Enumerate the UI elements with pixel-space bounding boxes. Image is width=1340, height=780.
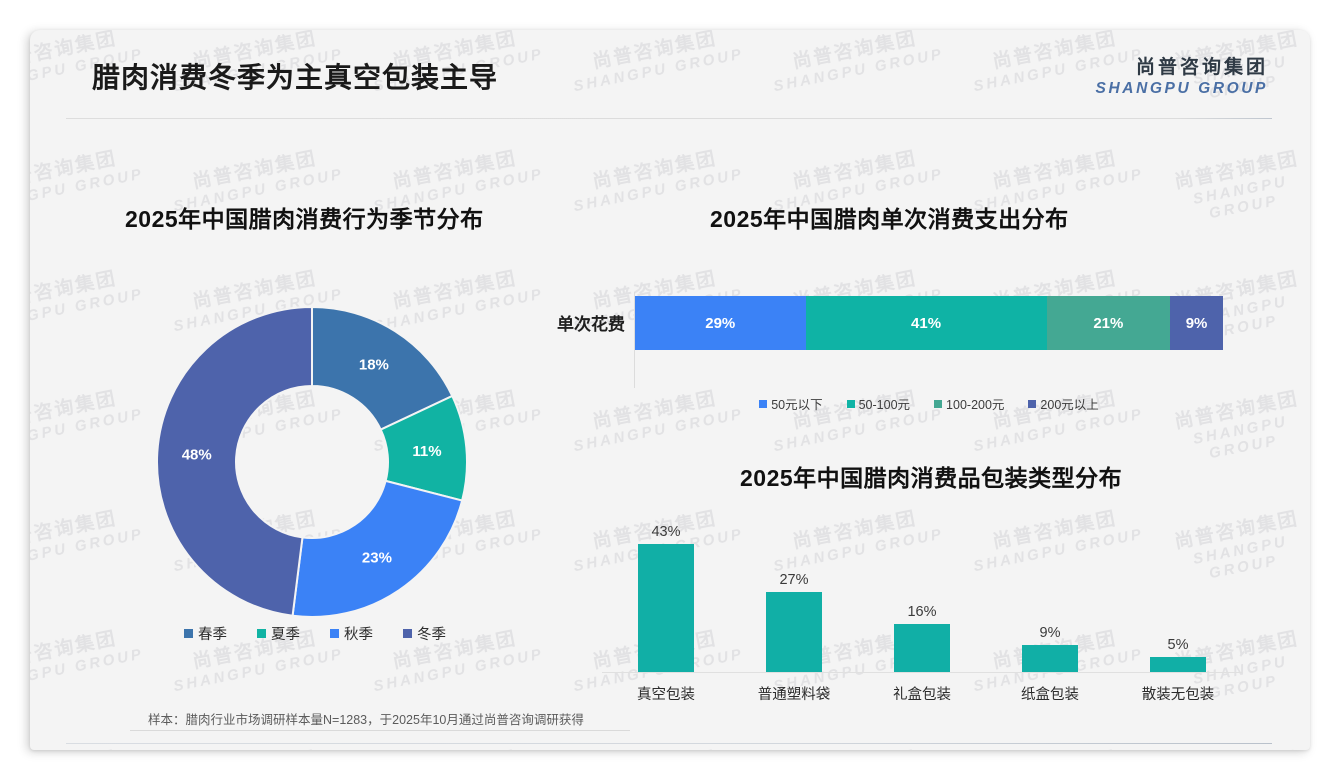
logo-text-cn: 尚普咨询集团 (1096, 52, 1268, 79)
bar-column[interactable]: 9% (990, 508, 1110, 672)
watermark-text: 尚普咨询集团SHANGPU GROUP (768, 744, 945, 750)
footnote-text: 样本：腊肉行业市场调研样本量N=1283，于2025年10月通过尚普咨询调研获得 (148, 709, 584, 728)
stacked-legend-item[interactable]: 50-100元 (847, 394, 910, 413)
bar-value-label: 43% (651, 524, 680, 540)
bar-column[interactable]: 43% (606, 508, 726, 672)
bar-category-label: 真空包装 (606, 683, 726, 704)
bar-value-label: 9% (1040, 625, 1061, 641)
donut-svg: 18%11%23%48% (150, 300, 474, 624)
legend-label: 冬季 (417, 623, 446, 644)
footer-divider (66, 743, 1272, 744)
stacked-bar-segment[interactable]: 29% (635, 296, 806, 350)
brand-logo: 尚普咨询集团 SHANGPU GROUP (1096, 52, 1268, 98)
bar-value-label: 27% (779, 572, 808, 588)
bar-column[interactable]: 27% (734, 508, 854, 672)
bar-rect[interactable] (766, 592, 822, 672)
legend-swatch (1028, 400, 1036, 408)
season-donut-chart: 18%11%23%48% (150, 300, 474, 624)
legend-swatch (330, 629, 339, 638)
donut-legend-item[interactable]: 秋季 (330, 623, 373, 644)
legend-label: 200元以上 (1040, 394, 1098, 413)
logo-text-en: SHANGPU GROUP (1096, 80, 1268, 98)
stacked-bar-segment[interactable]: 9% (1170, 296, 1223, 350)
legend-label: 50-100元 (859, 394, 910, 413)
bar-value-label: 16% (907, 604, 936, 620)
watermark-text: 尚普咨询集团SHANGPU GROUP (1166, 147, 1310, 229)
stacked-legend-item[interactable]: 50元以下 (759, 394, 822, 413)
stacked-legend-item[interactable]: 100-200元 (934, 394, 1004, 413)
legend-swatch (847, 400, 855, 408)
legend-swatch (934, 400, 942, 408)
stacked-bar-segment[interactable]: 21% (1047, 296, 1170, 350)
donut-slice-label: 18% (359, 356, 389, 373)
donut-legend-item[interactable]: 冬季 (403, 623, 446, 644)
donut-slice-label: 23% (362, 550, 392, 567)
bar-category-label: 散装无包装 (1118, 683, 1238, 704)
stacked-legend: 50元以下50-100元100-200元200元以上 (635, 394, 1223, 413)
legend-label: 100-200元 (946, 394, 1004, 413)
watermark-text: 尚普咨询集团SHANGPU GROUP (368, 744, 545, 750)
slide-header: 腊肉消费冬季为主真空包装主导 尚普咨询集团 SHANGPU GROUP (30, 30, 1310, 118)
bar-rect[interactable] (1150, 657, 1206, 672)
footnote-divider (130, 730, 630, 731)
legend-swatch (257, 629, 266, 638)
stacked-legend-item[interactable]: 200元以上 (1028, 394, 1098, 413)
donut-slice[interactable] (157, 307, 312, 616)
stacked-row-label: 单次花费 (530, 310, 625, 335)
donut-slice-label: 11% (412, 443, 441, 460)
legend-label: 秋季 (344, 623, 373, 644)
bar-value-label: 5% (1168, 637, 1189, 653)
stacked-chart-title: 2025年中国腊肉单次消费支出分布 (710, 200, 1069, 234)
watermark-text: 尚普咨询集团SHANGPU GROUP (30, 264, 145, 335)
legend-swatch (184, 629, 193, 638)
legend-label: 春季 (198, 623, 227, 644)
bars-plot-area: 43%27%16%9%5% (602, 508, 1242, 672)
donut-chart-title: 2025年中国腊肉消费行为季节分布 (125, 200, 484, 234)
watermark-text: 尚普咨询集团SHANGPU GROUP (568, 744, 745, 750)
slide-canvas: 尚普咨询集团SHANGPU GROUP尚普咨询集团SHANGPU GROUP尚普… (30, 30, 1310, 750)
bar-column[interactable]: 16% (862, 508, 982, 672)
bars-category-axis: 真空包装普通塑料袋礼盒包装纸盒包装散装无包装 (602, 683, 1242, 704)
packaging-chart-title: 2025年中国腊肉消费品包装类型分布 (740, 459, 1122, 493)
bar-category-label: 普通塑料袋 (734, 683, 854, 704)
bar-rect[interactable] (638, 544, 694, 672)
legend-swatch (403, 629, 412, 638)
header-divider (66, 118, 1272, 119)
watermark-text: 尚普咨询集团SHANGPU GROUP (30, 504, 145, 575)
page-title: 腊肉消费冬季为主真空包装主导 (92, 56, 498, 96)
watermark-text: 尚普咨询集团SHANGPU GROUP (30, 384, 145, 455)
watermark-text: 尚普咨询集团SHANGPU GROUP (30, 624, 145, 695)
stacked-bar-track: 29%41%21%9% (635, 296, 1223, 350)
legend-label: 50元以下 (771, 394, 822, 413)
stacked-bar-segment[interactable]: 41% (806, 296, 1047, 350)
bar-column[interactable]: 5% (1118, 508, 1238, 672)
legend-swatch (759, 400, 767, 408)
bar-rect[interactable] (894, 624, 950, 672)
bar-rect[interactable] (1022, 645, 1078, 672)
bars-baseline (602, 672, 1242, 673)
bar-category-label: 礼盒包装 (862, 683, 982, 704)
donut-legend-item[interactable]: 春季 (184, 623, 227, 644)
donut-legend-item[interactable]: 夏季 (257, 623, 300, 644)
donut-slice-label: 48% (182, 447, 212, 464)
donut-legend: 春季夏季秋季冬季 (150, 623, 480, 644)
bar-category-label: 纸盒包装 (990, 683, 1110, 704)
legend-label: 夏季 (271, 623, 300, 644)
packaging-bar-chart: 43%27%16%9%5% 真空包装普通塑料袋礼盒包装纸盒包装散装无包装 (602, 508, 1242, 708)
